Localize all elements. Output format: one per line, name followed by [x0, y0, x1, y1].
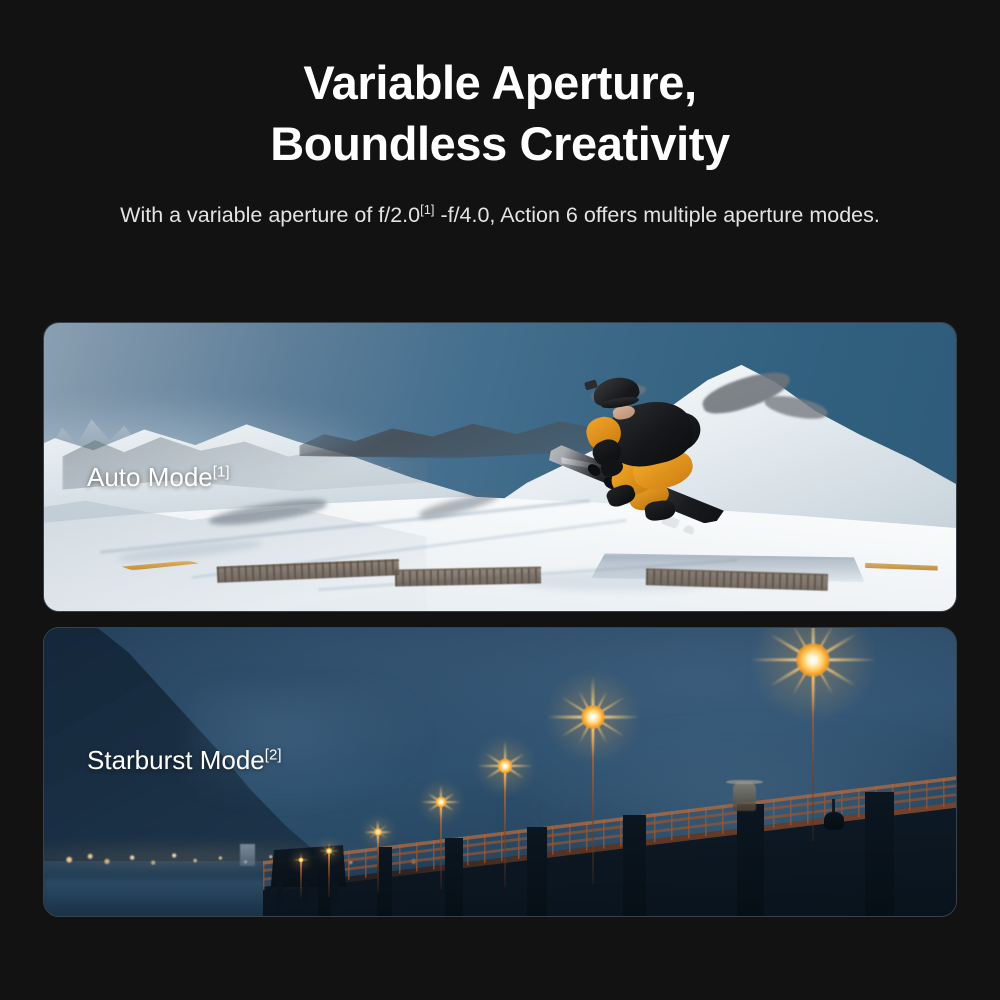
subtitle-part-2: -f/4.0, Action 6 offers multiple apertur… — [434, 203, 879, 227]
mode-card-starburst-label: Starburst Mode[2] — [87, 745, 282, 776]
pier-piling-5 — [623, 815, 646, 916]
auto-mode-text: Auto Mode — [87, 462, 213, 492]
pier-piling-2 — [377, 847, 393, 916]
snow-fence-2 — [395, 568, 541, 587]
subtitle-footnote-1: [1] — [420, 202, 434, 217]
starburst-core — [796, 643, 830, 677]
pier-piling-7 — [865, 792, 894, 916]
pier-piling-6 — [737, 804, 763, 916]
mode-card-auto-label: Auto Mode[1] — [87, 462, 230, 493]
auto-mode-footnote: [1] — [213, 463, 230, 480]
page-title: Variable Aperture, Boundless Creativity — [0, 52, 1000, 174]
snowboarder — [541, 372, 742, 579]
starburst-core — [581, 705, 605, 729]
pier-piling-3 — [445, 838, 462, 916]
starburst-core — [326, 848, 332, 854]
deck-lamp-housing — [733, 782, 757, 811]
page-header: Variable Aperture, Boundless Creativity … — [0, 0, 1000, 231]
starburst-mode-text: Starburst Mode — [87, 745, 265, 775]
pier-piling-4 — [527, 827, 547, 916]
mode-card-list: Auto Mode[1] — [43, 322, 957, 917]
starburst-core — [374, 828, 382, 836]
mode-card-auto[interactable]: Auto Mode[1] — [43, 322, 957, 612]
headline-line-2: Boundless Creativity — [0, 113, 1000, 174]
starburst-mode-footnote: [2] — [265, 746, 282, 763]
starburst-core — [498, 759, 513, 774]
promo-page: Variable Aperture, Boundless Creativity … — [0, 0, 1000, 1000]
headline-line-1: Variable Aperture, — [0, 52, 1000, 113]
subtitle-part-1: With a variable aperture of f/2.0 — [120, 203, 420, 227]
starburst-core — [435, 797, 446, 808]
pier-head-legs — [267, 881, 349, 916]
starburst-core — [299, 857, 304, 862]
page-subtitle: With a variable aperture of f/2.0[1] -f/… — [70, 200, 930, 231]
mode-card-starburst[interactable]: Starburst Mode[2] — [43, 627, 957, 917]
deck-lamp-cap — [726, 780, 762, 785]
hanging-bell — [824, 812, 844, 829]
